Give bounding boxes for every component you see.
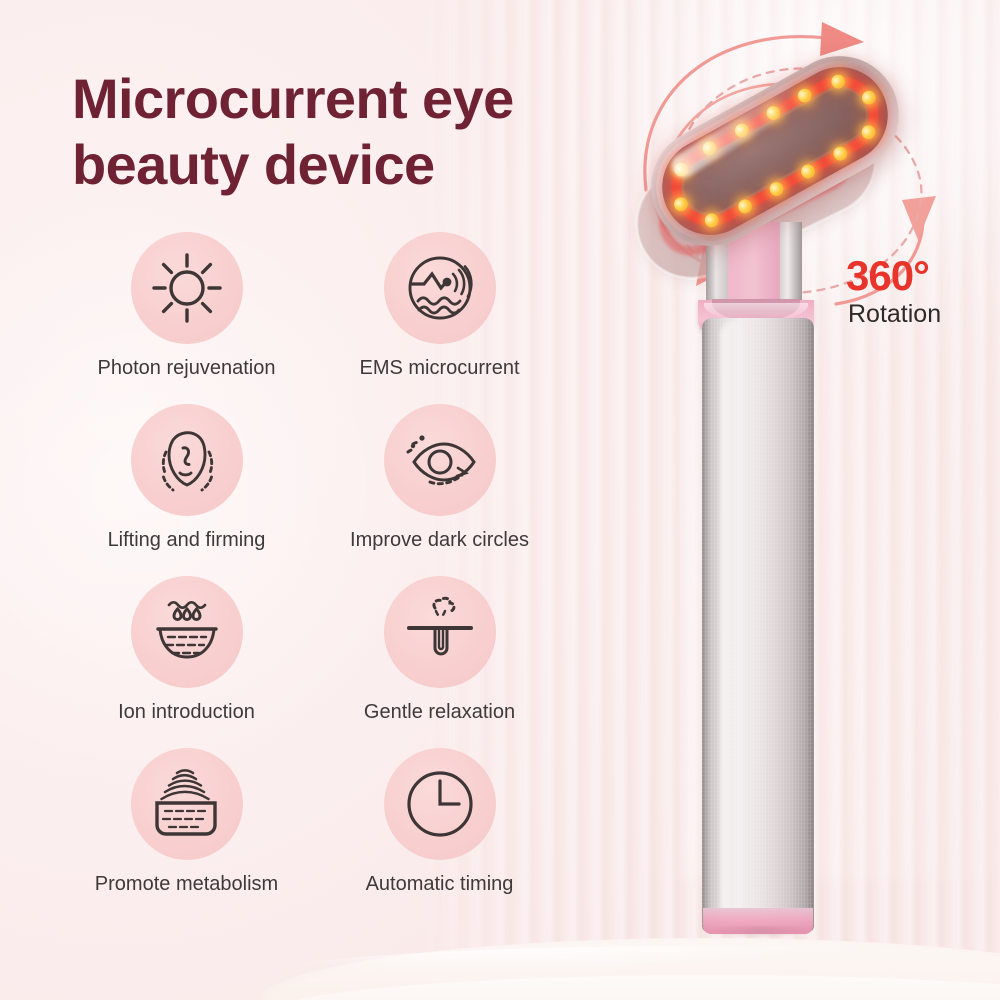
feature-ems-microcurrent[interactable]: EMS microcurrent xyxy=(313,232,566,380)
feature-row-4: Promote metabolism Automatic timing xyxy=(60,748,590,920)
feature-row-3: Ion introduction Gentle relaxation xyxy=(60,576,590,748)
feature-label: Automatic timing xyxy=(366,873,514,896)
feature-label: Lifting and firming xyxy=(108,529,266,552)
feature-automatic-timing[interactable]: Automatic timing xyxy=(313,748,566,896)
feature-lifting-and-firming[interactable]: Lifting and firming xyxy=(60,404,313,552)
page-title: Microcurrent eye beauty device xyxy=(72,66,672,198)
clock-icon xyxy=(384,748,496,860)
feature-grid: Photon rejuvenation EMS microcurrent xyxy=(60,232,590,920)
product-banner: Microcurrent eye beauty device Photon re… xyxy=(0,0,1000,1000)
eye-icon xyxy=(384,404,496,516)
sun-icon xyxy=(131,232,243,344)
feature-label: Photon rejuvenation xyxy=(98,357,276,380)
ems-wave-icon xyxy=(384,232,496,344)
feature-row-2: Lifting and firming Improve dark circles xyxy=(60,404,590,576)
rotation-value: 360° xyxy=(846,252,929,300)
feature-label: Ion introduction xyxy=(118,701,255,724)
face-lifting-icon xyxy=(131,404,243,516)
device-handle-highlight xyxy=(720,322,746,922)
pore-steam-icon xyxy=(384,576,496,688)
feature-gentle-relaxation[interactable]: Gentle relaxation xyxy=(313,576,566,724)
feature-ion-introduction[interactable]: Ion introduction xyxy=(60,576,313,724)
feature-improve-dark-circles[interactable]: Improve dark circles xyxy=(313,404,566,552)
rotation-label: Rotation xyxy=(848,300,941,329)
device-head[interactable] xyxy=(630,35,920,267)
feature-label: Promote metabolism xyxy=(95,873,278,896)
feature-label: Improve dark circles xyxy=(350,529,529,552)
ion-droplet-icon xyxy=(131,576,243,688)
feature-photon-rejuvenation[interactable]: Photon rejuvenation xyxy=(60,232,313,380)
skin-waves-icon xyxy=(131,748,243,860)
feature-promote-metabolism[interactable]: Promote metabolism xyxy=(60,748,313,896)
feature-row-1: Photon rejuvenation EMS microcurrent xyxy=(60,232,590,404)
device-handle-texture xyxy=(702,318,814,932)
feature-label: Gentle relaxation xyxy=(364,701,515,724)
product-device xyxy=(600,0,1000,1000)
device-contact-shadow xyxy=(686,926,836,948)
feature-label: EMS microcurrent xyxy=(359,357,519,380)
